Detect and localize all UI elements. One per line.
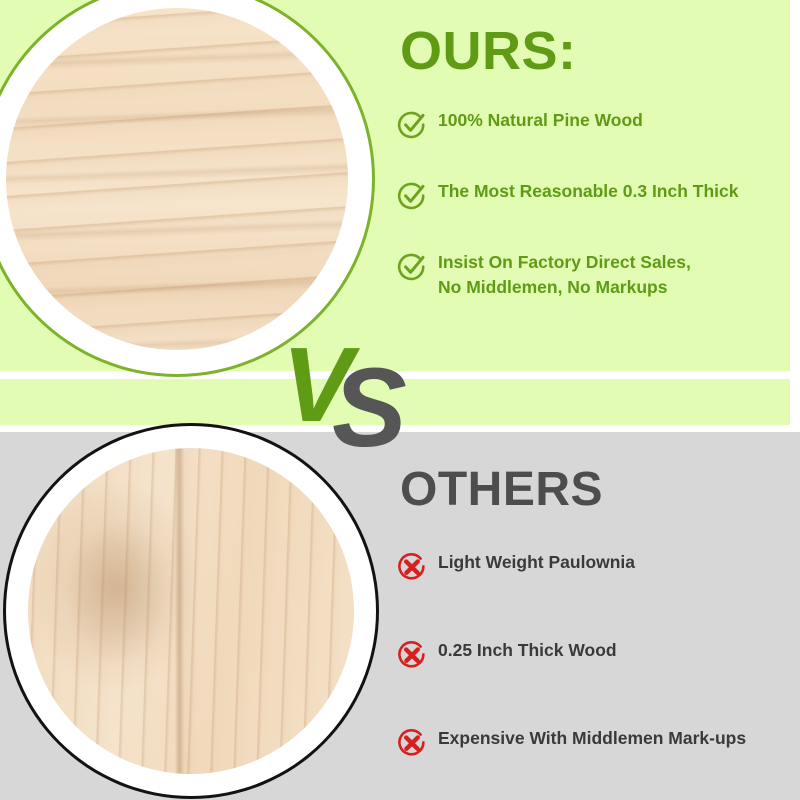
others-heading: OTHERS xyxy=(400,466,603,514)
comparison-infographic: V S OURS: 100% Natural Pine Wood The Mos… xyxy=(0,0,800,800)
list-item-label: The Most Reasonable 0.3 Inch Thick xyxy=(438,179,739,204)
list-item-label: 100% Natural Pine Wood xyxy=(438,108,643,133)
list-item: 100% Natural Pine Wood xyxy=(396,108,796,141)
list-item-label: 0.25 Inch Thick Wood xyxy=(438,638,617,663)
ours-heading: OURS: xyxy=(400,24,577,78)
check-circle-icon xyxy=(396,251,428,283)
others-feature-list: Light Weight Paulownia 0.25 Inch Thick W… xyxy=(396,550,796,800)
others-product-circle xyxy=(6,426,376,796)
list-item: 0.25 Inch Thick Wood xyxy=(396,638,796,671)
list-item: The Most Reasonable 0.3 Inch Thick xyxy=(396,179,796,212)
x-circle-icon xyxy=(396,639,428,671)
list-item-label: Insist On Factory Direct Sales, No Middl… xyxy=(438,250,691,300)
x-circle-icon xyxy=(396,551,428,583)
check-circle-icon xyxy=(396,180,428,212)
check-circle-icon xyxy=(396,109,428,141)
list-item-label: Expensive With Middlemen Mark-ups xyxy=(438,726,746,751)
paulownia-wood-round-board-image xyxy=(28,448,354,774)
list-item: Insist On Factory Direct Sales, No Middl… xyxy=(396,250,796,300)
list-item: Light Weight Paulownia xyxy=(396,550,796,583)
list-item: Expensive With Middlemen Mark-ups xyxy=(396,726,796,759)
ours-panel-strip xyxy=(0,379,790,425)
ours-feature-list: 100% Natural Pine Wood The Most Reasonab… xyxy=(396,108,796,338)
x-circle-icon xyxy=(396,727,428,759)
pine-wood-round-board-image xyxy=(6,8,348,350)
list-item-label: Light Weight Paulownia xyxy=(438,550,635,575)
